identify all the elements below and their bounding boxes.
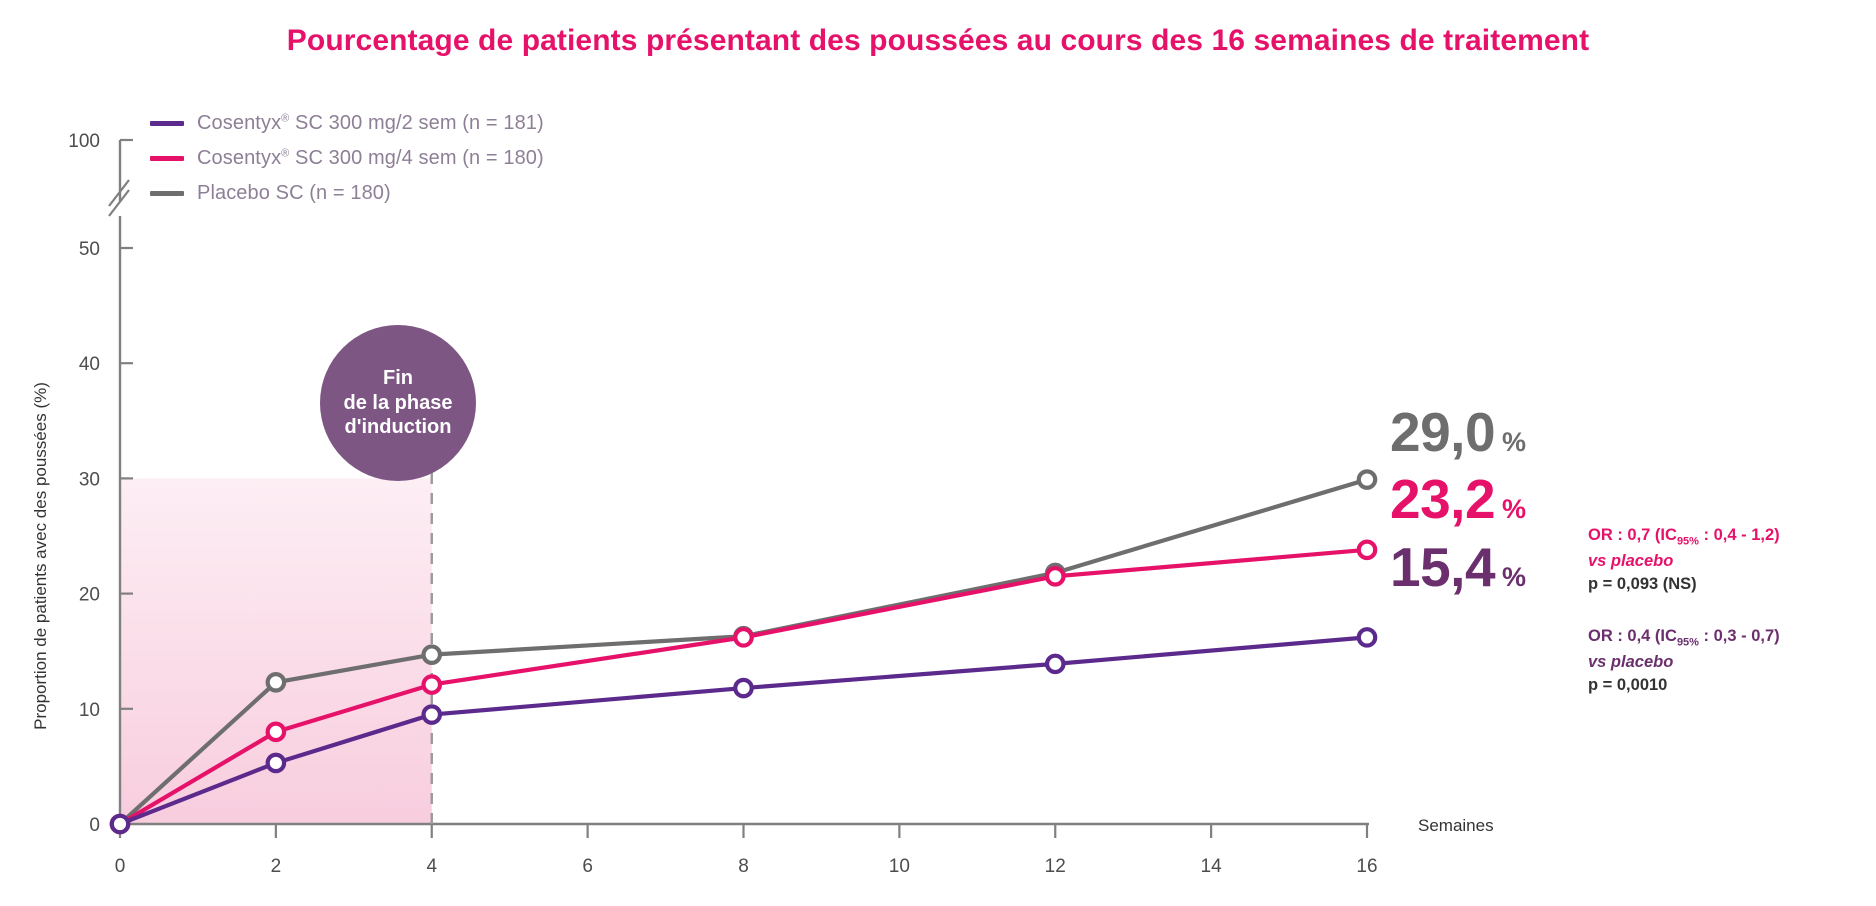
end-value-percent-1: % — [1502, 494, 1526, 524]
stat-odds-ratio-1: OR : 0,4 (IC95% : 0,3 - 0,7) — [1588, 625, 1780, 651]
induction-phase-badge: Fin de la phase d'induction — [320, 325, 476, 481]
legend-swatch-2 — [150, 191, 184, 196]
legend-label-1: Cosentyx® SC 300 mg/4 sem (n = 180) — [197, 147, 544, 170]
legend-item-1[interactable]: Cosentyx® SC 300 mg/4 sem (n = 180) — [150, 141, 544, 176]
end-value-label-0: 29,0% — [1390, 405, 1526, 460]
data-point-0-w8 — [735, 680, 751, 696]
data-point-1-w16 — [1359, 542, 1375, 558]
x-tick-label-8: 8 — [738, 856, 749, 877]
chart-legend: Cosentyx® SC 300 mg/2 sem (n = 181)Cosen… — [150, 106, 544, 211]
x-tick-label-14: 14 — [1201, 856, 1223, 877]
stat-comparator-0: vs placebo — [1588, 550, 1780, 573]
legend-label-0: Cosentyx® SC 300 mg/2 sem (n = 181) — [197, 112, 544, 135]
legend-item-0[interactable]: Cosentyx® SC 300 mg/2 sem (n = 181) — [150, 106, 544, 141]
y-tick-label-100: 100 — [68, 131, 100, 152]
stat-odds-ratio-0: OR : 0,7 (IC95% : 0,4 - 1,2) — [1588, 524, 1780, 550]
stat-block-0: OR : 0,7 (IC95% : 0,4 - 1,2)vs placebop … — [1588, 524, 1780, 597]
data-point-2-w16 — [1359, 471, 1375, 487]
legend-item-2[interactable]: Placebo SC (n = 180) — [150, 176, 544, 211]
x-tick-label-6: 6 — [582, 856, 593, 877]
x-axis-label: Semaines — [1418, 816, 1494, 835]
y-tick-label-40: 40 — [79, 354, 100, 375]
data-point-2-w2 — [268, 674, 284, 690]
legend-swatch-0 — [150, 121, 184, 126]
data-point-0-w12 — [1047, 656, 1063, 672]
y-tick-label-0: 0 — [89, 815, 100, 836]
y-tick-label-10: 10 — [79, 700, 100, 721]
data-point-1-w4 — [424, 676, 440, 692]
y-tick-label-50: 50 — [79, 239, 100, 260]
stat-pvalue-0: p = 0,093 (NS) — [1588, 573, 1780, 596]
end-value-number-2: 15,4 — [1390, 536, 1495, 598]
stat-pvalue-1: p = 0,0010 — [1588, 674, 1780, 697]
x-tick-label-0: 0 — [115, 856, 126, 877]
data-point-0-w16 — [1359, 629, 1375, 645]
stat-block-1: OR : 0,4 (IC95% : 0,3 - 0,7)vs placebop … — [1588, 625, 1780, 698]
data-point-1-w12 — [1047, 568, 1063, 584]
data-point-2-w4 — [424, 646, 440, 662]
chart-page: Pourcentage de patients présentant des p… — [0, 0, 1876, 906]
end-value-number-1: 23,2 — [1390, 468, 1495, 530]
data-point-1-w2 — [268, 724, 284, 740]
x-tick-label-2: 2 — [271, 856, 282, 877]
y-axis-label: Proportion de patients avec des poussées… — [31, 382, 50, 730]
x-tick-label-10: 10 — [889, 856, 910, 877]
x-tick-label-4: 4 — [426, 856, 437, 877]
end-value-label-2: 15,4% — [1390, 540, 1526, 595]
end-value-percent-2: % — [1502, 562, 1526, 592]
y-tick-label-20: 20 — [79, 585, 100, 606]
x-tick-label-16: 16 — [1356, 856, 1377, 877]
end-value-label-1: 23,2% — [1390, 472, 1526, 527]
legend-label-2: Placebo SC (n = 180) — [197, 182, 391, 205]
x-tick-label-12: 12 — [1045, 856, 1066, 877]
data-point-0-w2 — [268, 755, 284, 771]
legend-swatch-1 — [150, 156, 184, 161]
data-point-1-w8 — [735, 629, 751, 645]
end-value-percent-0: % — [1502, 427, 1526, 457]
y-tick-label-30: 30 — [79, 469, 100, 490]
data-point-0-w0 — [112, 816, 128, 832]
end-value-number-0: 29,0 — [1390, 401, 1495, 463]
data-point-0-w4 — [424, 706, 440, 722]
stat-comparator-1: vs placebo — [1588, 651, 1780, 674]
